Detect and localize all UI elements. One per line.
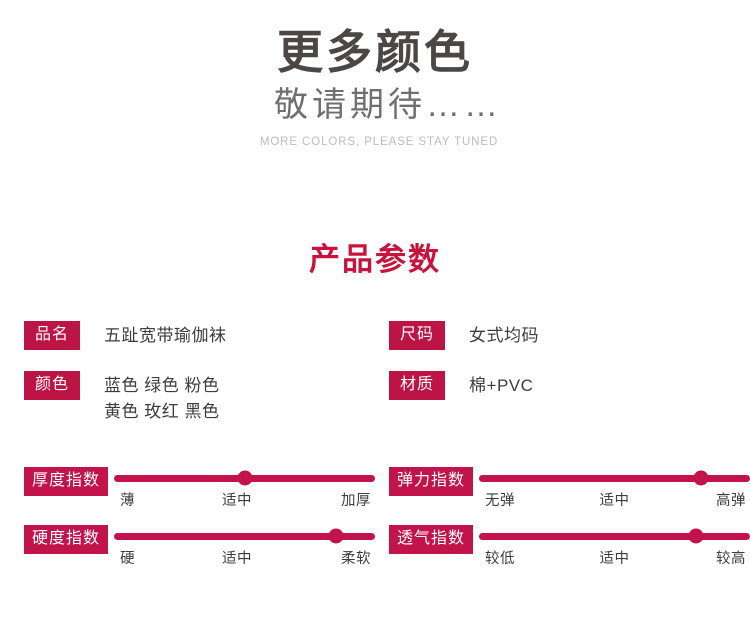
slider-track-hardness-index[interactable] (114, 533, 375, 540)
slider-scale-label: 较高 (716, 547, 746, 568)
spec-value-product-name: 五趾宽带瑜伽袜 (104, 321, 227, 349)
slider-track-breathability-index[interactable] (479, 533, 750, 540)
spec-label-color: 颜色 (24, 371, 80, 400)
slider-scale-hardness-index: 硬 适中 柔软 (114, 547, 375, 568)
slider-scale-label: 加厚 (341, 489, 371, 510)
spec-column-right: 尺码 女式均码 材质 棉+PVC (375, 321, 750, 447)
spec-value-line: 黄色 玫红 黑色 (104, 399, 219, 425)
specifications-block: 品名 五趾宽带瑜伽袜 颜色 蓝色 绿色 粉色 黄色 玫红 黑色 尺码 女式均码 (0, 321, 750, 447)
spec-row-material: 材质 棉+PVC (389, 371, 750, 400)
slider-body-thickness-index: 薄 适中 加厚 (114, 467, 375, 510)
spec-value-material: 棉+PVC (469, 371, 533, 399)
spec-label-product-name: 品名 (24, 321, 80, 350)
spec-column-left: 品名 五趾宽带瑜伽袜 颜色 蓝色 绿色 粉色 黄色 玫红 黑色 (0, 321, 375, 447)
spec-value-line: 棉+PVC (469, 373, 533, 399)
spec-label-material: 材质 (389, 371, 445, 400)
slider-scale-elasticity-index: 无弹 适中 高弹 (479, 489, 750, 510)
slider-body-hardness-index: 硬 适中 柔软 (114, 525, 375, 568)
slider-scale-label: 硬 (120, 547, 135, 568)
slider-column-left: 厚度指数 薄 适中 加厚 硬度指数 硬 适中 (0, 467, 375, 583)
slider-track-thickness-index[interactable] (114, 475, 375, 482)
slider-row-thickness-index: 厚度指数 薄 适中 加厚 (24, 467, 375, 510)
spec-row-size: 尺码 女式均码 (389, 321, 750, 350)
spec-value-size: 女式均码 (469, 321, 539, 349)
slider-label-thickness-index: 厚度指数 (24, 467, 108, 496)
slider-scale-label: 高弹 (716, 489, 746, 510)
spec-row-color: 颜色 蓝色 绿色 粉色 黄色 玫红 黑色 (24, 371, 375, 426)
slider-row-elasticity-index: 弹力指数 无弹 适中 高弹 (389, 467, 750, 510)
slider-row-breathability-index: 透气指数 较低 适中 较高 (389, 525, 750, 568)
slider-label-elasticity-index: 弹力指数 (389, 467, 473, 496)
slider-scale-label: 较低 (485, 547, 515, 568)
hero-subtitle: 敬请期待…… (0, 83, 750, 127)
slider-column-right: 弹力指数 无弹 适中 高弹 透气指数 较低 适中 (375, 467, 750, 583)
spec-row-product-name: 品名 五趾宽带瑜伽袜 (24, 321, 375, 350)
slider-scale-label: 柔软 (341, 547, 371, 568)
slider-scale-label: 适中 (222, 489, 252, 510)
section-title-product-parameters: 产品参数 (0, 234, 750, 279)
spec-value-line: 女式均码 (469, 323, 539, 349)
slider-scale-label: 薄 (120, 489, 135, 510)
spec-value-color: 蓝色 绿色 粉色 黄色 玫红 黑色 (104, 371, 219, 426)
hero-english-tagline: MORE COLORS, PLEASE STAY TUNED (0, 136, 750, 148)
slider-label-hardness-index: 硬度指数 (24, 525, 108, 554)
slider-knob-thickness-index[interactable] (237, 471, 252, 486)
slider-scale-breathability-index: 较低 适中 较高 (479, 547, 750, 568)
slider-body-elasticity-index: 无弹 适中 高弹 (479, 467, 750, 510)
slider-label-breathability-index: 透气指数 (389, 525, 473, 554)
slider-knob-breathability-index[interactable] (688, 529, 703, 544)
slider-knob-hardness-index[interactable] (328, 529, 343, 544)
slider-knob-elasticity-index[interactable] (694, 471, 709, 486)
index-sliders-block: 厚度指数 薄 适中 加厚 硬度指数 硬 适中 (0, 467, 750, 583)
hero-banner: 更多颜色 敬请期待…… MORE COLORS, PLEASE STAY TUN… (0, 0, 750, 148)
spec-value-line: 蓝色 绿色 粉色 (104, 373, 219, 399)
slider-scale-thickness-index: 薄 适中 加厚 (114, 489, 375, 510)
spec-label-size: 尺码 (389, 321, 445, 350)
hero-title: 更多颜色 (0, 26, 750, 79)
slider-scale-label: 适中 (600, 547, 630, 568)
slider-scale-label: 适中 (600, 489, 630, 510)
spec-value-line: 五趾宽带瑜伽袜 (104, 323, 227, 349)
slider-scale-label: 无弹 (485, 489, 515, 510)
slider-track-elasticity-index[interactable] (479, 475, 750, 482)
slider-body-breathability-index: 较低 适中 较高 (479, 525, 750, 568)
slider-row-hardness-index: 硬度指数 硬 适中 柔软 (24, 525, 375, 568)
slider-scale-label: 适中 (222, 547, 252, 568)
